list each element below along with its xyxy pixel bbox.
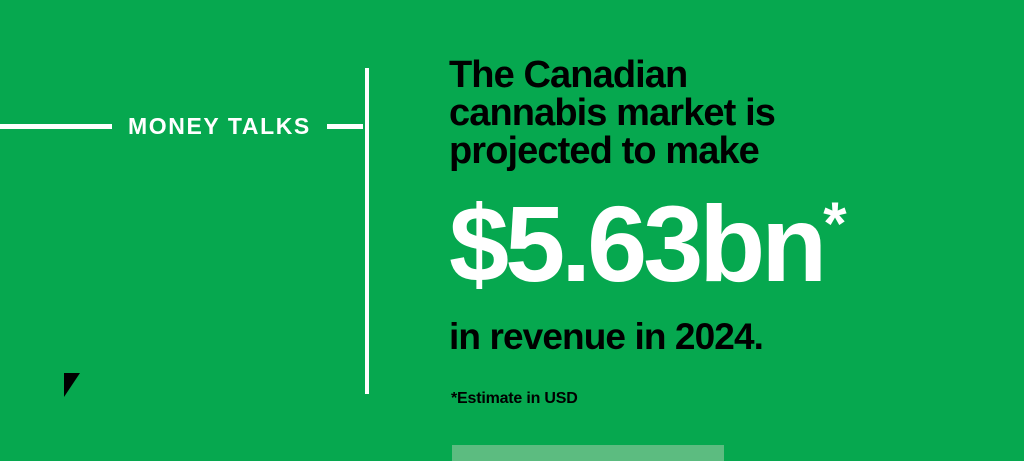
subline: in revenue in 2024. (449, 296, 994, 355)
triangle-mark-icon (64, 373, 80, 397)
money-talks-stat-card: MONEY TALKS The Canadian cannabis market… (0, 0, 1024, 461)
subline-tail: in 2024. (625, 316, 763, 357)
subline-emphasis: revenue (489, 316, 625, 357)
vertical-divider (365, 68, 369, 394)
stat-number: $5.63bn (449, 183, 823, 304)
kicker-rule-right (327, 124, 363, 129)
stat-value: $5.63bn* (449, 170, 994, 296)
kicker-group: MONEY TALKS (0, 110, 368, 142)
headline: The Canadian cannabis market is projecte… (449, 56, 849, 170)
footnote: *Estimate in USD (449, 355, 994, 407)
bottom-accent-bar (452, 445, 724, 461)
subline-lead: in (449, 316, 489, 357)
kicker-rule-left (0, 124, 112, 129)
headline-lead: The (449, 54, 524, 96)
stat-footnote-marker: * (823, 194, 846, 254)
kicker-label: MONEY TALKS (112, 115, 327, 138)
content-column: The Canadian cannabis market is projecte… (449, 56, 994, 407)
